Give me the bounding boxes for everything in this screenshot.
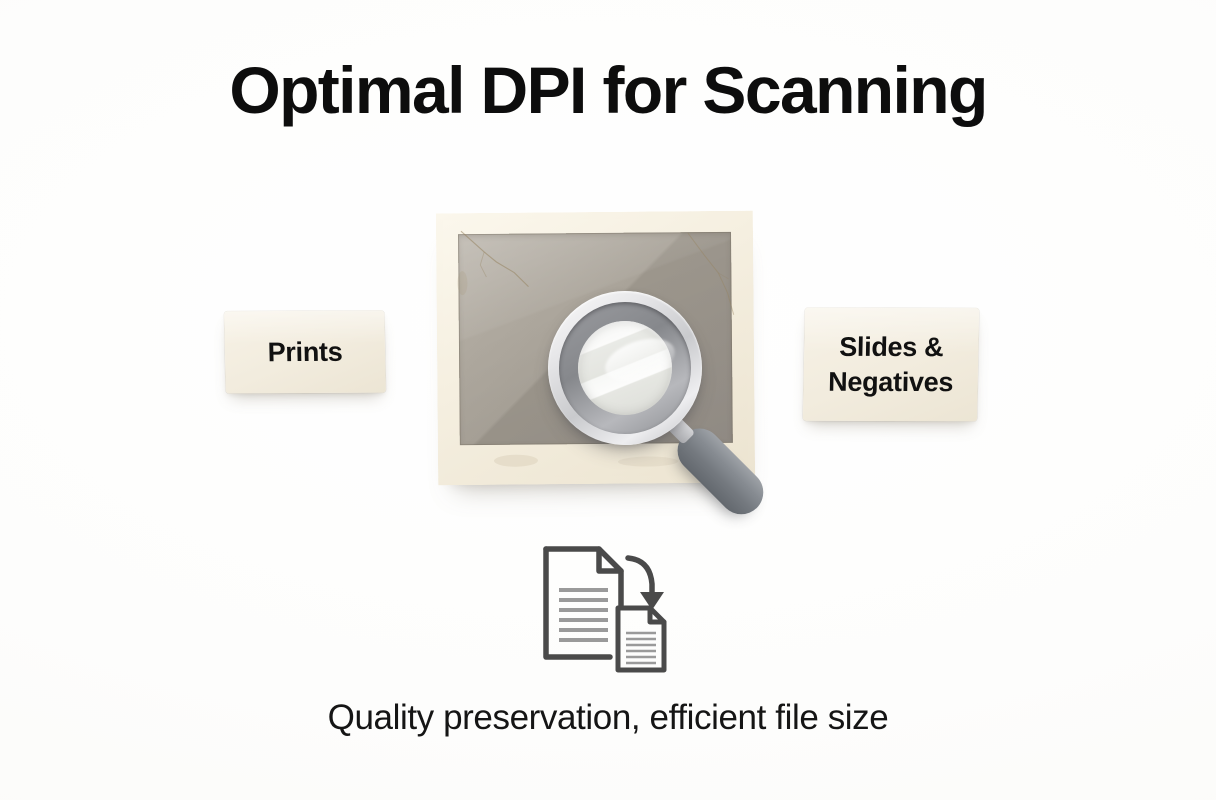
label-line-2: Negatives	[828, 366, 953, 396]
label-card-prints: Prints	[224, 311, 386, 394]
document-compress-icon	[540, 540, 680, 675]
label-card-slides-negatives-text: Slides & Negatives	[828, 330, 954, 399]
label-card-slides-negatives: Slides & Negatives	[803, 308, 979, 422]
doc-icon-svg	[540, 540, 680, 675]
small-doc-text-lines	[626, 633, 656, 663]
magnifier-lens	[578, 321, 672, 415]
magnifier-lens-gloss	[600, 331, 680, 389]
magnifier-outer-rim	[548, 291, 702, 445]
large-doc-text-lines	[559, 590, 608, 640]
caption-text: Quality preservation, efficient file siz…	[0, 698, 1216, 738]
illustration-canvas: Optimal DPI for Scanning Prints Slides &…	[0, 0, 1216, 800]
magnifying-glass-icon	[548, 291, 702, 445]
label-card-prints-text: Prints	[267, 336, 342, 367]
curved-arrow-icon	[628, 558, 664, 610]
page-title: Optimal DPI for Scanning	[0, 57, 1216, 123]
magnifier-inner-ring	[559, 302, 691, 434]
label-line-1: Slides &	[839, 332, 944, 362]
